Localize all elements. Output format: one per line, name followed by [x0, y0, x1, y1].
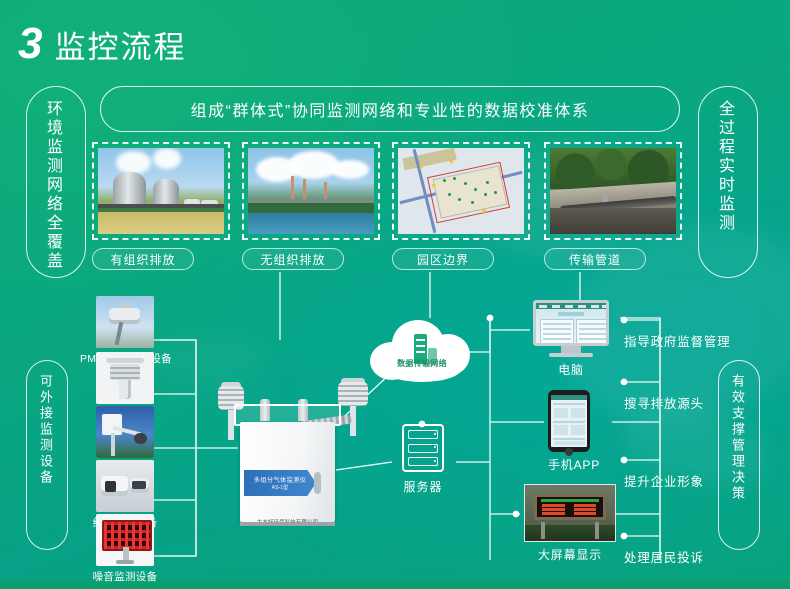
- left-top-capsule-label: 环境监测网络全覆盖: [40, 100, 64, 271]
- left-bottom-capsule-label: 可外接监测设备: [36, 374, 55, 486]
- outcome-label-1: 搜寻排放源头: [624, 393, 704, 412]
- desktop-monitor-icon: [533, 300, 609, 346]
- device-item-noise[interactable]: 噪音监测设备: [80, 514, 170, 584]
- infrared-monitor-photo: [96, 460, 154, 512]
- monitor-base: [549, 353, 593, 357]
- power-plant-photo: [98, 148, 224, 234]
- scenario-photo-frame: [544, 142, 682, 240]
- server-label: 服务器: [390, 478, 456, 495]
- endpoint-label: 电脑: [533, 361, 609, 378]
- cabinet-model: AS-1型: [272, 484, 289, 491]
- phone-home-button: [565, 448, 573, 456]
- page-header: 3 监控流程: [18, 22, 186, 67]
- pm-sensor-photo: [96, 296, 154, 348]
- device-label: 噪音监测设备: [80, 569, 170, 584]
- industrial-city-photo: [248, 148, 374, 234]
- scenario-caption-3: 传输管道: [544, 248, 646, 270]
- scenario-caption-2: 园区边界: [392, 248, 494, 270]
- right-top-capsule-label: 全过程实时监测: [712, 100, 736, 233]
- surveillance-camera-photo: [96, 406, 154, 458]
- scenario-caption-1: 无组织排放: [242, 248, 344, 270]
- scenario-photo-frame: [92, 142, 230, 240]
- infographic-canvas: 3 监控流程 环境监测网络全覆盖 可外接监测设备 全过程实时监测 有效支撑管理决…: [0, 0, 790, 589]
- cabinet-product-name: 多组分气体监测仪: [254, 475, 307, 484]
- headline-banner: 组成“群体式”协同监测网络和专业性的数据校准体系: [100, 86, 680, 132]
- monitoring-cabinet[interactable]: 多组分气体监测仪 AS-1型 大方好环保科技有限公司: [240, 404, 335, 522]
- outcome-label-3: 处理居民投诉: [624, 547, 704, 566]
- noise-monitor-photo: [96, 514, 154, 566]
- cabinet-body: 多组分气体监测仪 AS-1型 大方好环保科技有限公司: [240, 422, 335, 522]
- endpoint-led-display[interactable]: 大屏幕显示: [524, 484, 616, 563]
- outcome-label-0: 指导政府监督管理: [624, 331, 730, 350]
- weather-sensor-photo: [96, 352, 154, 404]
- smartphone-icon: [548, 390, 590, 452]
- cloud-network-icon[interactable]: 数据传输网络: [370, 318, 474, 384]
- transmission-pipeline-photo: [550, 148, 676, 234]
- server-rack-icon: [402, 424, 444, 472]
- outcome-label-2: 提升企业形象: [624, 471, 704, 490]
- endpoint-label: 大屏幕显示: [524, 546, 616, 563]
- cabinet-handle[interactable]: [314, 472, 321, 494]
- page-title: 监控流程: [54, 22, 186, 67]
- scenario-photo-frame: [242, 142, 380, 240]
- park-boundary-map-photo: [398, 148, 524, 234]
- led-display-board-photo: [524, 484, 616, 542]
- right-bottom-capsule-label: 有效支撑管理决策: [728, 374, 747, 502]
- server-node[interactable]: 服务器: [390, 424, 456, 495]
- right-sensor-mast: [338, 382, 368, 440]
- scenario-photo-frame: [392, 142, 530, 240]
- endpoint-label: 手机APP: [548, 456, 590, 473]
- cloud-label: 数据传输网络: [370, 358, 474, 369]
- monitor-stand: [561, 346, 581, 353]
- scenario-photo-row: 有组织排放 无组织排放: [92, 142, 692, 272]
- cabinet-base: [240, 522, 335, 526]
- section-number: 3: [18, 22, 42, 66]
- endpoint-mobile-app[interactable]: 手机APP: [548, 390, 590, 473]
- cabinet-product-plate: 多组分气体监测仪 AS-1型: [244, 470, 316, 496]
- endpoint-computer[interactable]: 电脑: [533, 300, 609, 378]
- scenario-caption-0: 有组织排放: [92, 248, 194, 270]
